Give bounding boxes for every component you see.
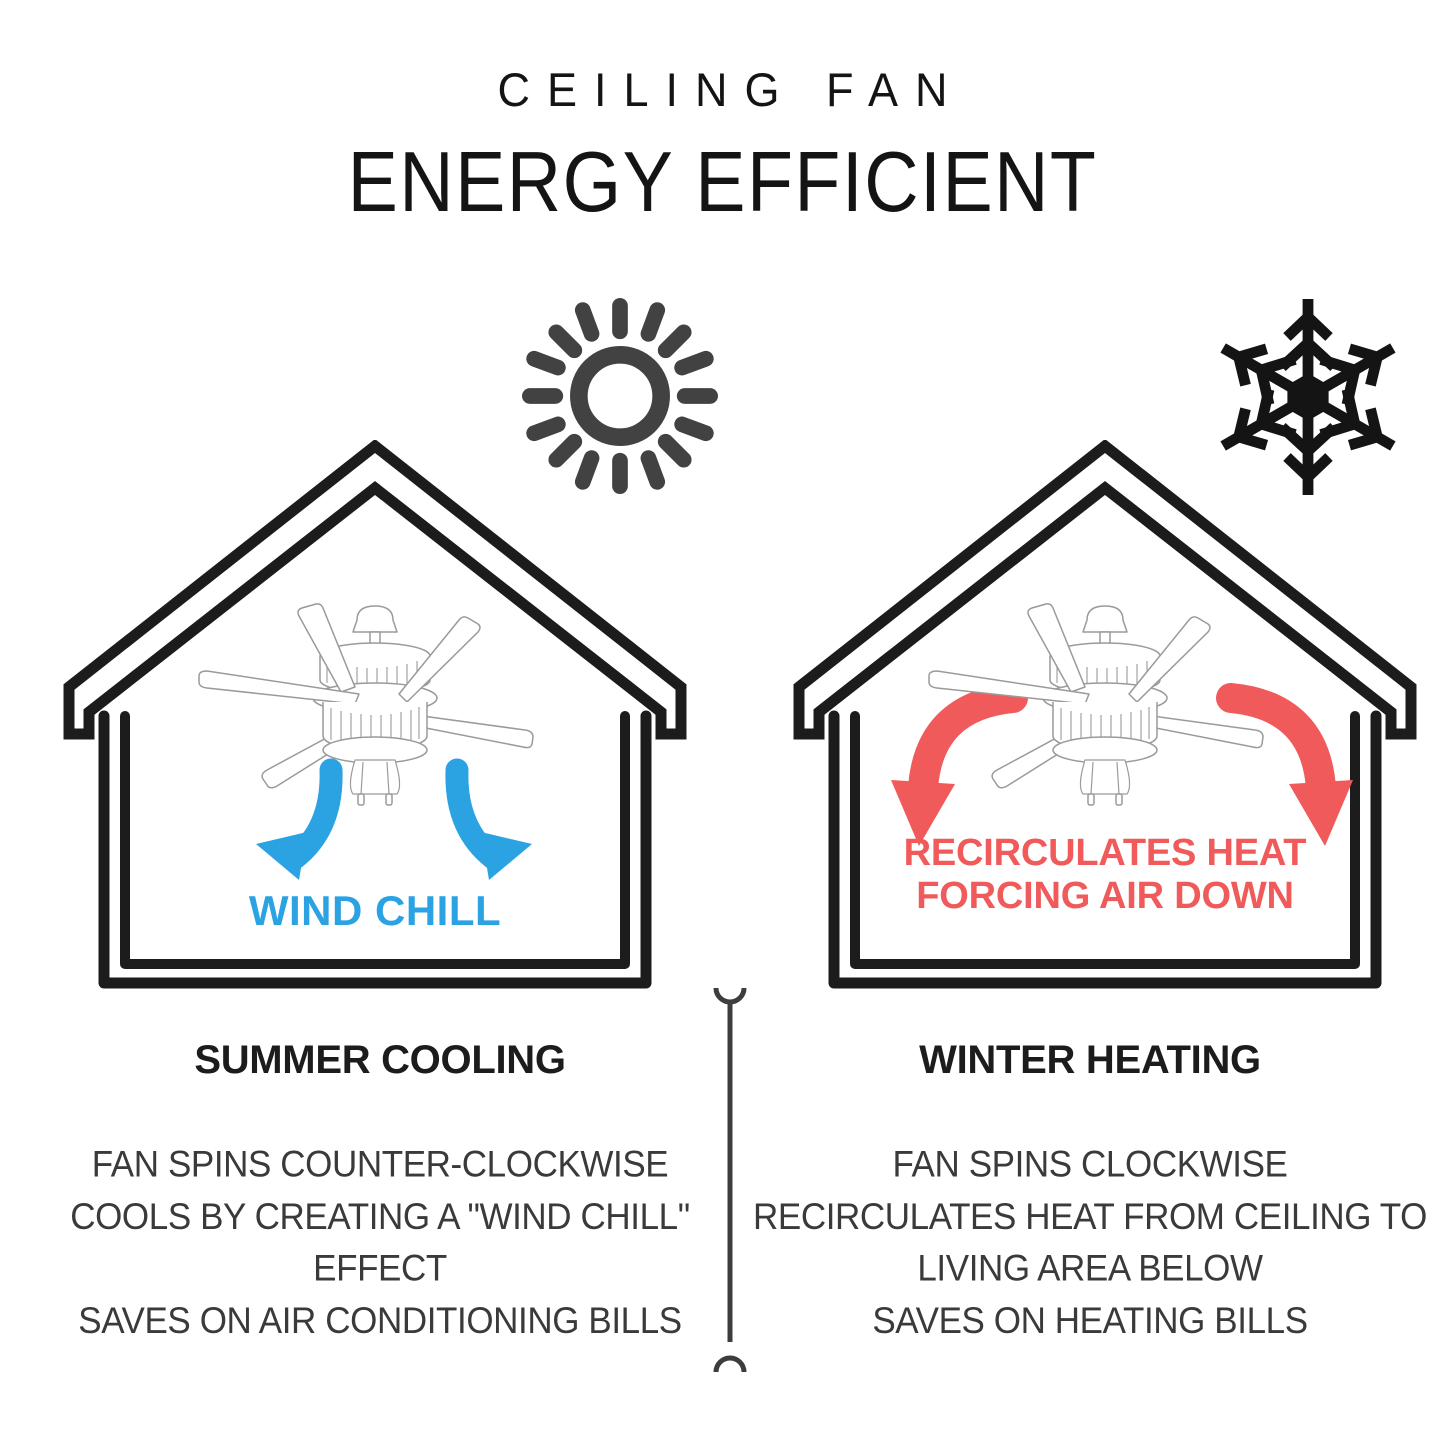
body-summer-line-1: FAN SPINS COUNTER-CLOCKWISE <box>40 1139 720 1191</box>
body-summer: FAN SPINS COUNTER-CLOCKWISE COOLS BY CRE… <box>40 1080 720 1347</box>
body-winter-line-1: FAN SPINS CLOCKWISE <box>740 1139 1440 1191</box>
body-winter-line-3: LIVING AREA BELOW <box>740 1243 1440 1295</box>
page-title: ENERGY EFFICIENT <box>7 107 1438 226</box>
heading-summer: SUMMER COOLING <box>40 1040 720 1080</box>
caption-summer: SUMMER COOLING FAN SPINS COUNTER-CLOCKWI… <box>40 1040 720 1335</box>
body-winter: FAN SPINS CLOCKWISE RECIRCULATES HEAT FR… <box>740 1080 1440 1347</box>
body-winter-line-2: RECIRCULATES HEAT FROM CEILING TO <box>740 1191 1440 1243</box>
panel-summer: WIND CHILL <box>55 440 695 1005</box>
overlay-label-winter: RECIRCULATES HEAT FORCING AIR DOWN <box>785 832 1425 919</box>
house-scene-winter: RECIRCULATES HEAT FORCING AIR DOWN <box>785 440 1425 1005</box>
header: CEILING FAN ENERGY EFFICIENT <box>0 0 1445 213</box>
body-summer-line-2: COOLS BY CREATING A "WIND CHILL" <box>40 1191 720 1243</box>
ceiling-fan-icon <box>785 440 1425 1005</box>
overlay-label-winter-line-2: FORCING AIR DOWN <box>785 875 1425 918</box>
curved-arrow-right-icon <box>457 770 532 880</box>
panel-winter: RECIRCULATES HEAT FORCING AIR DOWN <box>785 440 1425 1005</box>
curved-arrow-left-icon <box>256 770 331 880</box>
overlay-label-summer: WIND CHILL <box>55 887 695 935</box>
body-summer-line-4: SAVES ON AIR CONDITIONING BILLS <box>40 1295 720 1347</box>
body-winter-line-4: SAVES ON HEATING BILLS <box>740 1295 1440 1347</box>
heading-winter: WINTER HEATING <box>740 1040 1440 1080</box>
infographic-page: CEILING FAN ENERGY EFFICIENT <box>0 0 1445 1445</box>
body-summer-line-3: EFFECT <box>40 1243 720 1295</box>
house-scene-summer: WIND CHILL <box>55 440 695 1005</box>
kicker-title: CEILING FAN <box>0 0 1445 113</box>
caption-winter: WINTER HEATING FAN SPINS CLOCKWISE RECIR… <box>740 1040 1440 1335</box>
overlay-label-winter-line-1: RECIRCULATES HEAT <box>785 832 1425 875</box>
